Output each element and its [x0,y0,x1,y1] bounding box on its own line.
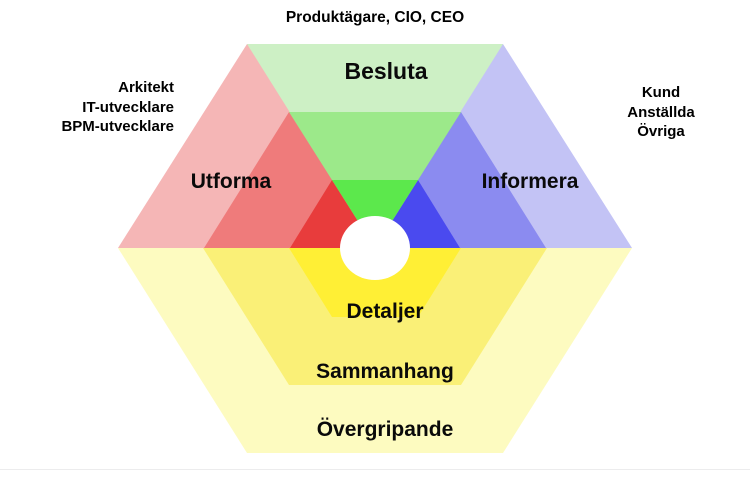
left-stakeholders-line-1: Arkitekt [6,78,174,98]
right-stakeholders-label: Kund Anställda Övriga [578,83,744,142]
sector-label-besluta: Besluta [296,58,476,85]
bottom-divider [0,469,750,470]
center-circle [340,216,410,280]
sector-label-informera: Informera [430,170,630,194]
right-stakeholders-line-2: Anställda [578,103,744,123]
detail-level-label-sammanhang: Sammanhang [255,360,515,384]
top-stakeholders-line-1: Produktägare, CIO, CEO [0,8,750,28]
hexagon-diagram: Produktägare, CIO, CEO Arkitekt IT-utvec… [0,0,750,477]
left-stakeholders-line-2: IT-utvecklare [6,98,174,118]
left-stakeholders-line-3: BPM-utvecklare [6,117,174,137]
detail-level-label-detaljer: Detaljer [275,300,495,324]
right-stakeholders-line-3: Övriga [578,122,744,142]
left-stakeholders-label: Arkitekt IT-utvecklare BPM-utvecklare [6,78,174,137]
sector-label-utforma: Utforma [148,170,314,194]
detail-level-label-overgripande: Övergripande [250,418,520,442]
right-stakeholders-line-1: Kund [578,83,744,103]
top-stakeholders-label: Produktägare, CIO, CEO [0,8,750,28]
